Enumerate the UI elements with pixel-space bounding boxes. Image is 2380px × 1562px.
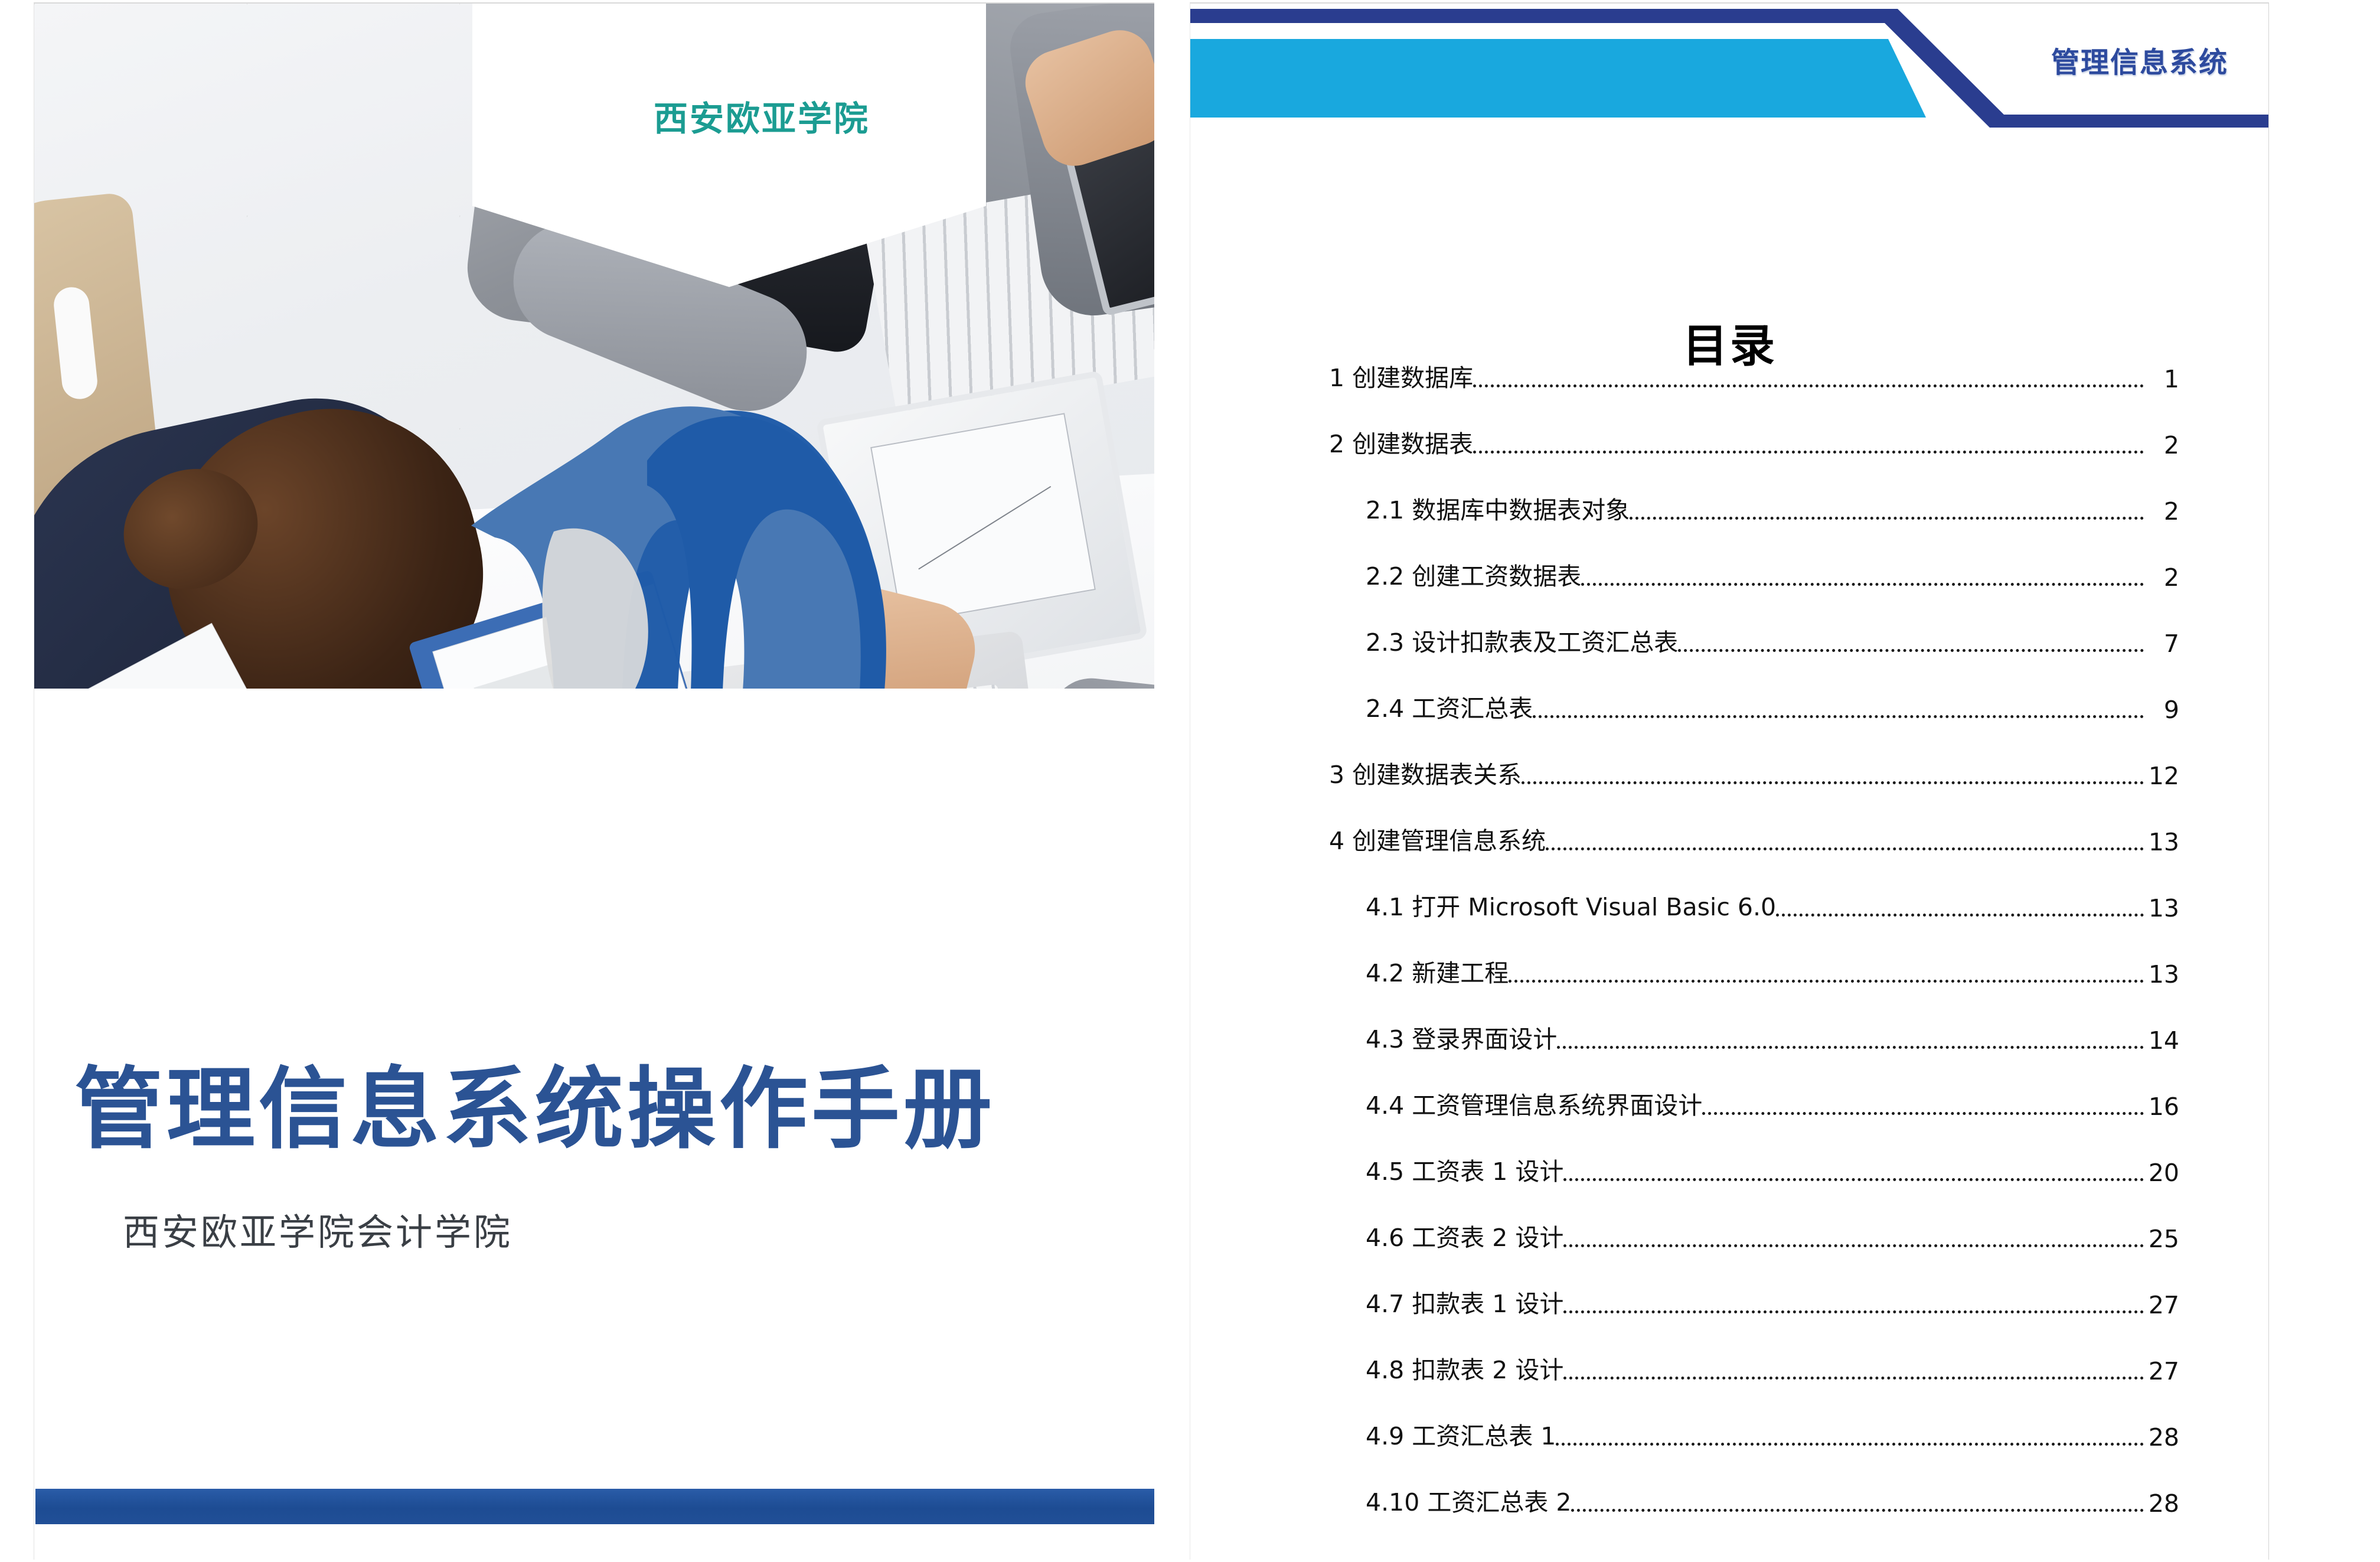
cover-subtitle: 西安欧亚学院会计学院 — [123, 1202, 512, 1256]
toc-entry-label: 1 创建数据库 — [1329, 358, 1473, 393]
toc-entry[interactable]: 4.9 工资汇总表 128 — [1329, 1416, 2179, 1452]
toc-entry[interactable]: 2 创建数据表2 — [1329, 424, 2179, 459]
toc-leader-dots — [1546, 843, 2144, 850]
toc-leader-dots — [1702, 1107, 2144, 1115]
toc-entry[interactable]: 4.10 工资汇总表 228 — [1329, 1482, 2179, 1518]
toc-entry-label: 4 创建管理信息系统 — [1329, 821, 1546, 856]
cover-bottom-bar — [35, 1489, 1154, 1524]
toc-page-number: 2 — [2146, 431, 2179, 459]
toc-page-number: 16 — [2146, 1093, 2179, 1121]
toc-entry-label: 4.6 工资表 2 设计 — [1366, 1218, 1563, 1253]
toc-page-number: 1 — [2146, 365, 2179, 393]
toc-leader-dots — [1630, 512, 2144, 520]
toc-entry[interactable]: 2.1 数据库中数据表对象2 — [1329, 490, 2179, 526]
table-of-contents-page: 管理信息系统 目录 1 创建数据库12 创建数据表22.1 数据库中数据表对象2… — [1190, 2, 2269, 1560]
toc-entry[interactable]: 4.2 新建工程13 — [1329, 953, 2179, 989]
toc-leader-dots — [1522, 777, 2144, 784]
toc-entry[interactable]: 4 创建管理信息系统13 — [1329, 821, 2179, 856]
toc-entry[interactable]: 4.8 扣款表 2 设计27 — [1329, 1350, 2179, 1385]
toc-page-number: 13 — [2146, 828, 2179, 856]
toc-leader-dots — [1563, 1240, 2144, 1247]
toc-leader-dots — [1557, 1041, 2144, 1049]
toc-leader-dots — [1533, 710, 2144, 718]
page-header: 管理信息系统 — [1190, 4, 2269, 128]
toc-page-number: 28 — [2146, 1423, 2179, 1452]
toc-entry-label: 4.7 扣款表 1 设计 — [1366, 1284, 1563, 1319]
toc-leader-dots — [1473, 380, 2144, 387]
toc-entry[interactable]: 2.2 创建工资数据表2 — [1329, 556, 2179, 592]
toc-page-number: 2 — [2146, 497, 2179, 526]
toc-page-number: 7 — [2146, 630, 2179, 658]
toc-entry[interactable]: 4.7 扣款表 1 设计27 — [1329, 1284, 2179, 1319]
toc-entry-label: 2 创建数据表 — [1329, 424, 1473, 459]
toc-page-number: 27 — [2146, 1357, 2179, 1385]
toc-page-number: 13 — [2146, 960, 2179, 989]
toc-entry-label: 2.1 数据库中数据表对象 — [1366, 490, 1630, 526]
toc-entry-label: 4.9 工资汇总表 1 — [1366, 1416, 1556, 1452]
toc-entry-label: 2.3 设计扣款表及工资汇总表 — [1366, 622, 1678, 658]
toc-page-number: 27 — [2146, 1291, 2179, 1319]
toc-page-number: 2 — [2146, 563, 2179, 592]
toc-entry-label: 4.1 打开 Microsoft Visual Basic 6.0 — [1366, 887, 1776, 922]
toc-leader-dots — [1571, 1504, 2144, 1512]
photo-laptop-chart — [870, 413, 1096, 624]
toc-leader-dots — [1581, 578, 2144, 586]
toc-entry[interactable]: 3 创建数据表关系12 — [1329, 755, 2179, 790]
toc-entry[interactable]: 4.3 登录界面设计14 — [1329, 1019, 2179, 1055]
toc-page-number: 12 — [2146, 762, 2179, 790]
cover-page: 西安欧亚学院 管理信息系统操作手册 西安欧亚学院会计学院 — [34, 2, 1154, 1560]
toc-entry-label: 4.3 登录界面设计 — [1366, 1019, 1557, 1055]
toc-page-number: 20 — [2146, 1159, 2179, 1187]
toc-entry-label: 4.4 工资管理信息系统界面设计 — [1366, 1085, 1702, 1121]
toc-leader-dots — [1509, 975, 2144, 983]
toc-leader-dots — [1563, 1173, 2144, 1181]
toc-entry-label: 4.5 工资表 1 设计 — [1366, 1152, 1563, 1187]
toc-leader-dots — [1776, 909, 2144, 917]
toc-leader-dots — [1563, 1372, 2144, 1380]
toc-page-number: 9 — [2146, 696, 2179, 724]
toc-entry[interactable]: 4.4 工资管理信息系统界面设计16 — [1329, 1085, 2179, 1121]
toc-entry-label: 3 创建数据表关系 — [1329, 755, 1522, 790]
toc-page-number: 13 — [2146, 894, 2179, 922]
toc-page-number: 28 — [2146, 1489, 2179, 1518]
toc-entry[interactable]: 4.1 打开 Microsoft Visual Basic 6.013 — [1329, 887, 2179, 922]
toc-page-number: 14 — [2146, 1026, 2179, 1055]
school-logo-label: 西安欧亚学院 — [654, 91, 870, 141]
toc-entry-label: 4.10 工资汇总表 2 — [1366, 1482, 1571, 1518]
toc-entry-label: 4.2 新建工程 — [1366, 953, 1509, 989]
toc-entry[interactable]: 1 创建数据库1 — [1329, 358, 2179, 393]
toc-entry-label: 4.8 扣款表 2 设计 — [1366, 1350, 1563, 1385]
toc-entry[interactable]: 2.4 工资汇总表9 — [1329, 689, 2179, 724]
header-title: 管理信息系统 — [2051, 39, 2228, 80]
toc-entry[interactable]: 4.6 工资表 2 设计25 — [1329, 1218, 2179, 1253]
toc-leader-dots — [1678, 644, 2144, 652]
cover-photo: 西安欧亚学院 — [34, 4, 1154, 689]
toc-page-number: 25 — [2146, 1225, 2179, 1253]
toc-entry[interactable]: 2.3 设计扣款表及工资汇总表7 — [1329, 622, 2179, 658]
toc-entry-label: 2.4 工资汇总表 — [1366, 689, 1533, 724]
toc-entry-list: 1 创建数据库12 创建数据表22.1 数据库中数据表对象22.2 创建工资数据… — [1329, 358, 2179, 1548]
toc-entry-label: 2.2 创建工资数据表 — [1366, 556, 1581, 592]
toc-entry[interactable]: 4.5 工资表 1 设计20 — [1329, 1152, 2179, 1187]
page-title: 管理信息系统操作手册 — [74, 1038, 1078, 1166]
toc-leader-dots — [1473, 446, 2144, 454]
toc-leader-dots — [1556, 1438, 2144, 1446]
toc-leader-dots — [1563, 1306, 2144, 1313]
